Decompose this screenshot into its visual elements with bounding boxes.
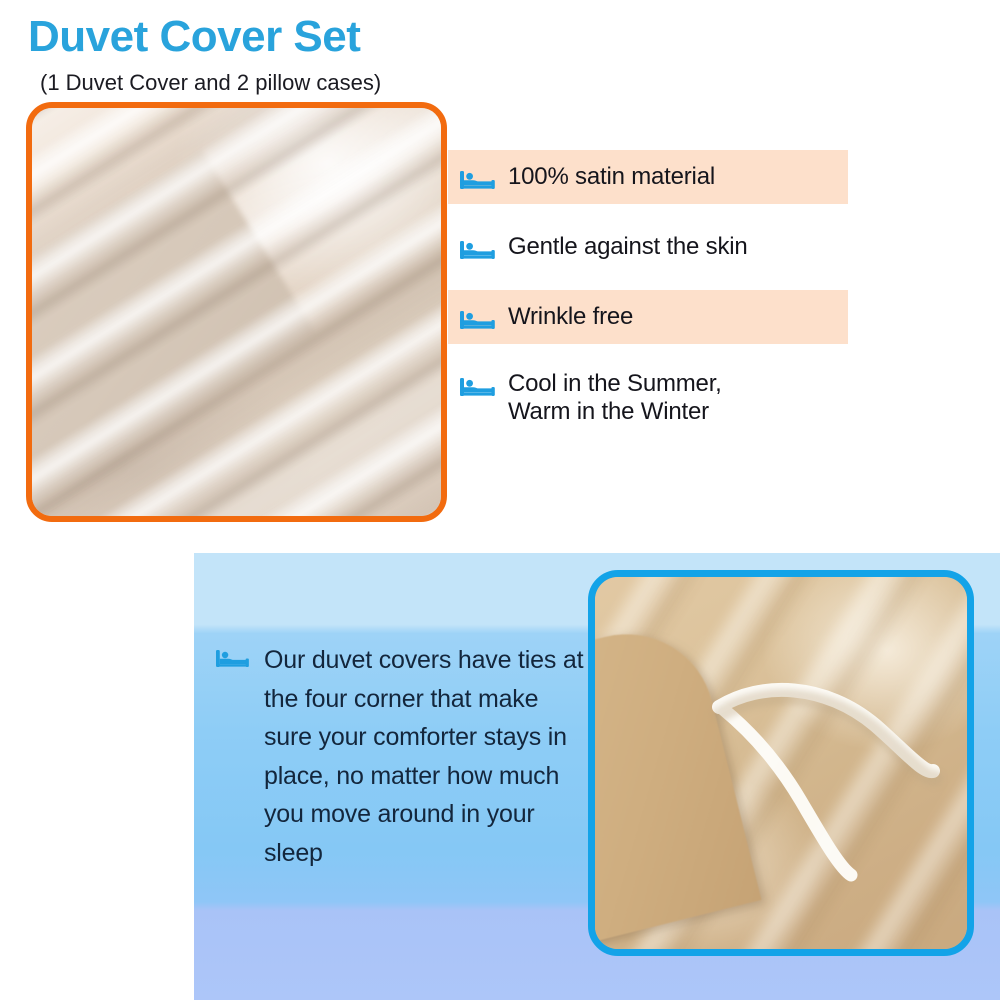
feature-label: Wrinkle free bbox=[508, 303, 633, 331]
satin-ties-texture bbox=[593, 575, 969, 951]
bed-icon bbox=[216, 647, 250, 670]
page-subtitle: (1 Duvet Cover and 2 pillow cases) bbox=[40, 70, 381, 96]
feature-item-wrinkle-free: Wrinkle free bbox=[448, 290, 848, 344]
feature-label: Cool in the Summer, Warm in the Winter bbox=[508, 370, 722, 427]
ties-info-text-block: Our duvet covers have ties at the four c… bbox=[216, 641, 586, 872]
feature-list: 100% satin material Gentle against the s… bbox=[448, 150, 848, 440]
feature-spacer bbox=[448, 274, 848, 290]
satin-fabric-texture bbox=[30, 106, 443, 518]
satin-fabric-photo bbox=[26, 102, 447, 522]
feature-label: 100% satin material bbox=[508, 163, 715, 191]
duvet-ties-photo bbox=[588, 570, 974, 956]
ties-info-paragraph: Our duvet covers have ties at the four c… bbox=[264, 641, 586, 872]
feature-item-satin-material: 100% satin material bbox=[448, 150, 848, 204]
feature-label: Gentle against the skin bbox=[508, 233, 748, 261]
bed-icon bbox=[460, 238, 496, 262]
bed-icon bbox=[460, 375, 496, 399]
bed-icon bbox=[460, 308, 496, 332]
bed-icon bbox=[460, 168, 496, 192]
infographic-canvas: Duvet Cover Set (1 Duvet Cover and 2 pil… bbox=[0, 0, 1000, 1000]
feature-spacer bbox=[448, 344, 848, 360]
feature-item-gentle-skin: Gentle against the skin bbox=[448, 220, 848, 274]
ribbon-ties-graphic bbox=[593, 575, 974, 956]
feature-spacer bbox=[448, 204, 848, 220]
page-title: Duvet Cover Set bbox=[28, 14, 360, 60]
feature-item-cool-warm: Cool in the Summer, Warm in the Winter bbox=[448, 360, 848, 440]
